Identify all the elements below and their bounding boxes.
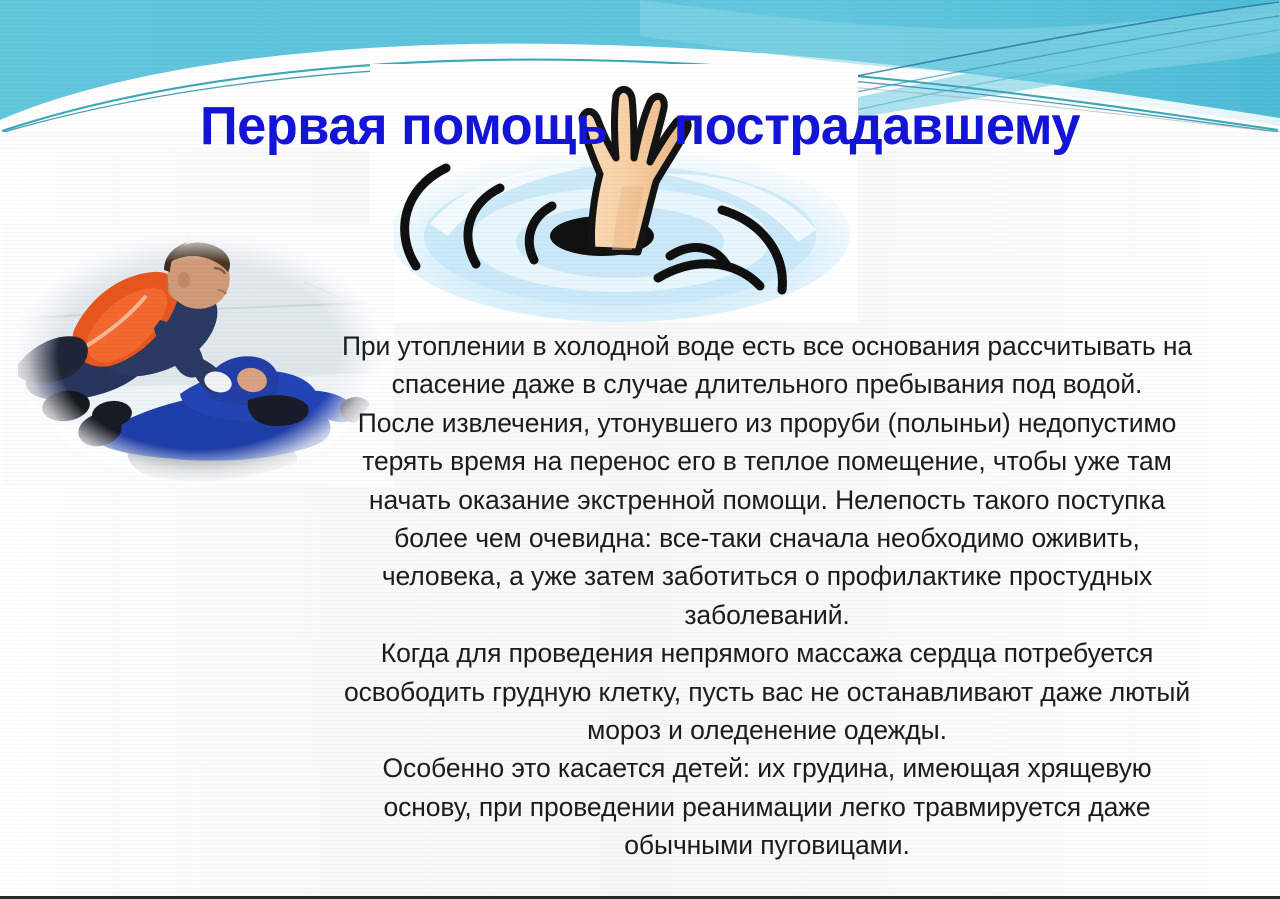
paragraph-3: Когда для проведения непрямого массажа с… xyxy=(338,634,1196,749)
poster-slide: Первая помощьпострадавшему При утоплении… xyxy=(0,0,1280,899)
page-title: Первая помощьпострадавшему xyxy=(19,95,1261,157)
page-title-right: пострадавшему xyxy=(674,96,1080,156)
ice-rescue-photo xyxy=(4,224,394,486)
paragraph-2: После извлечения, утонувшего из проруби … xyxy=(338,404,1196,634)
paragraph-1: При утоплении в холодной воде есть все о… xyxy=(338,327,1196,404)
paragraph-4: Особенно это касается детей: их грудина,… xyxy=(338,749,1196,864)
page-title-left: Первая помощь xyxy=(200,96,608,156)
body-copy: При утоплении в холодной воде есть все о… xyxy=(338,327,1196,865)
